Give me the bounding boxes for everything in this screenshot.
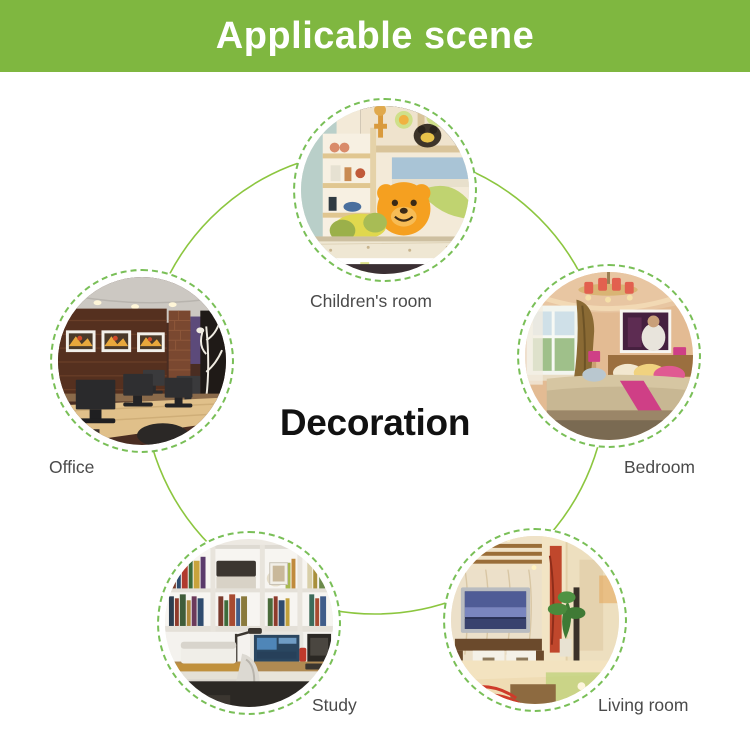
node-label-bedroom: Bedroom: [624, 457, 695, 478]
diagram-stage: Children's room: [0, 72, 750, 750]
applicable-scene-infographic: Applicable scene: [0, 0, 750, 750]
childrens-room-photo: [301, 106, 469, 274]
node-study-circle[interactable]: [157, 531, 341, 715]
node-label-study: Study: [312, 695, 357, 716]
node-living-room-circle[interactable]: [443, 528, 627, 712]
node-label-office: Office: [49, 457, 94, 478]
page-title: Applicable scene: [216, 15, 534, 58]
center-title: Decoration: [0, 402, 750, 444]
node-label-living-room: Living room: [598, 695, 688, 716]
header-banner: Applicable scene: [0, 0, 750, 72]
node-label-children-room: Children's room: [310, 291, 432, 312]
node-children-room-circle[interactable]: [293, 98, 477, 282]
study-photo: [165, 539, 333, 707]
living-room-photo: [451, 536, 619, 704]
